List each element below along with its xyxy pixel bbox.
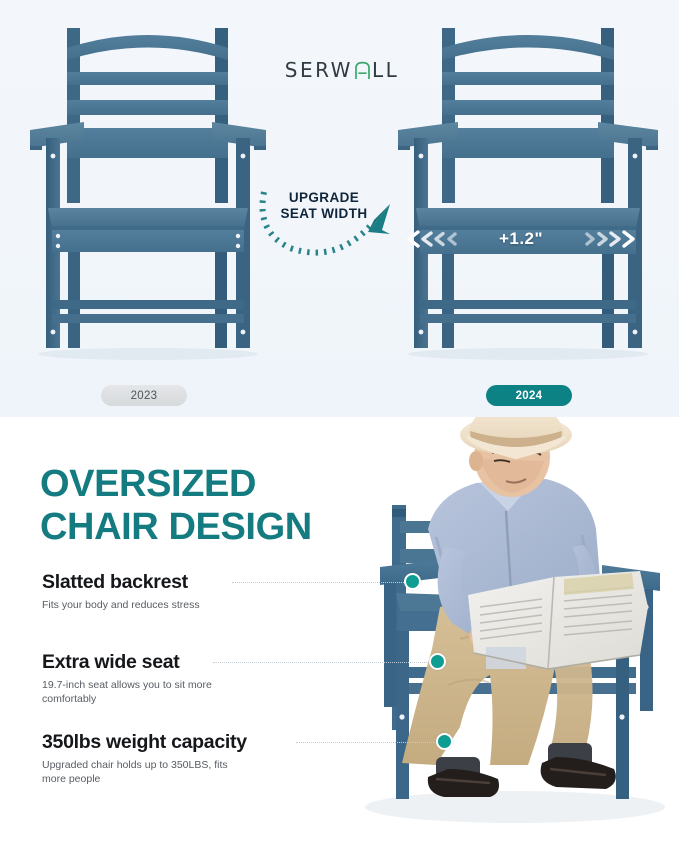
year-badge-2024: 2024 <box>486 385 572 406</box>
seated-man-photo <box>340 417 679 849</box>
year-badge-2024-label: 2024 <box>516 390 543 402</box>
feature-3-description: Upgraded chair holds up to 350LBS, fits … <box>42 758 252 786</box>
upgrade-line-1: UPGRADE <box>268 190 380 206</box>
brand-wordmark-part-1: SERW <box>285 58 353 82</box>
upgrade-line-2: SEAT WIDTH <box>268 206 380 222</box>
upgrade-callout-text: UPGRADE SEAT WIDTH <box>268 190 380 222</box>
headline-line-2: CHAIR DESIGN <box>40 506 370 549</box>
upgrade-callout: UPGRADE SEAT WIDTH <box>256 176 406 260</box>
callout-dot-icon-3 <box>436 733 453 750</box>
serwall-arch-a-logo-icon <box>354 61 371 80</box>
feature-2-title: Extra wide seat <box>42 651 342 673</box>
headline-line-1: OVERSIZED <box>40 463 256 505</box>
design-section: OVERSIZED CHAIR DESIGN Slatted backrest … <box>0 417 679 849</box>
page-title: OVERSIZED CHAIR DESIGN <box>40 463 370 549</box>
feature-3-title: 350lbs weight capacity <box>42 731 342 753</box>
comparison-section: +1.2" SERW <box>0 0 679 417</box>
brand-wordmark: SERW LL <box>285 58 400 82</box>
chair-image-2024 <box>392 18 664 370</box>
feature-extra-wide-seat: Extra wide seat 19.7-inch seat allows yo… <box>42 651 342 706</box>
product-infographic: +1.2" SERW <box>0 0 679 849</box>
feature-2-description: 19.7-inch seat allows you to sit more co… <box>42 678 252 706</box>
feature-1-description: Fits your body and reduces stress <box>42 598 252 612</box>
brand-logo: SERW LL <box>272 55 412 85</box>
seat-width-value: +1.2" <box>499 229 543 249</box>
brand-wordmark-part-2: LL <box>372 58 399 82</box>
feature-1-title: Slatted backrest <box>42 571 342 593</box>
callout-dot-icon-2 <box>429 653 446 670</box>
chevrons-left-icon <box>404 228 474 250</box>
feature-slatted-backrest: Slatted backrest Fits your body and redu… <box>42 571 342 612</box>
chevrons-right-icon <box>568 228 638 250</box>
seat-width-overlay: +1.2" <box>404 226 638 252</box>
callout-dot-icon-1 <box>404 573 421 590</box>
year-badge-2023-label: 2023 <box>131 390 158 402</box>
year-badge-2023: 2023 <box>101 385 187 406</box>
chair-image-2023 <box>22 18 274 370</box>
feature-weight-capacity: 350lbs weight capacity Upgraded chair ho… <box>42 731 342 786</box>
